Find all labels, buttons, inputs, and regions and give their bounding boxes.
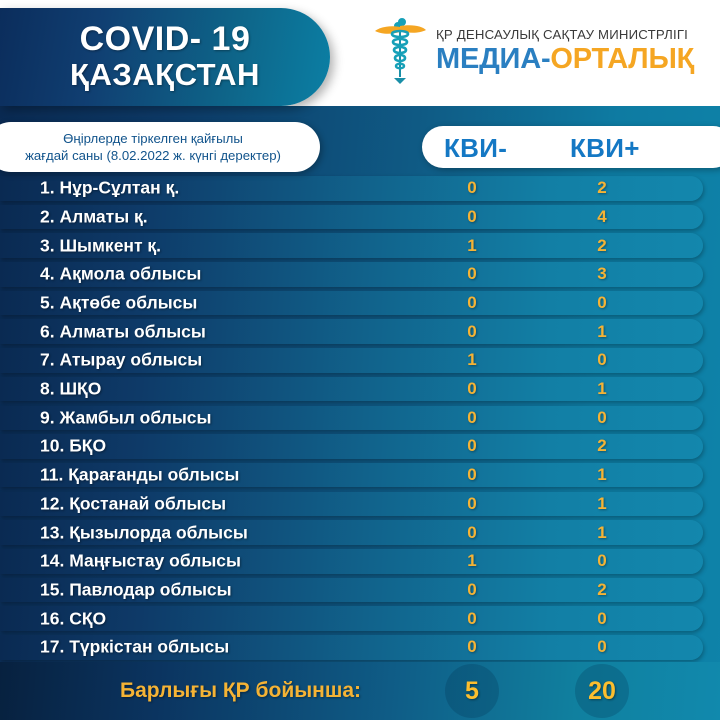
table-row: 4. Ақмола облысы03 xyxy=(0,262,703,287)
kvi-positive-value: 2 xyxy=(582,436,622,456)
covid-title-banner: COVID- 19 ҚАЗАҚСТАН xyxy=(0,8,330,106)
kvi-positive-value: 0 xyxy=(582,408,622,428)
kvi-negative-value: 0 xyxy=(452,264,492,284)
table-row: 9. Жамбыл облысы00 xyxy=(0,406,703,431)
kvi-positive-value: 2 xyxy=(582,236,622,256)
region-label: 6. Алматы облысы xyxy=(40,321,206,342)
kvi-positive-value: 1 xyxy=(582,523,622,543)
table-row: 13. Қызылорда облысы01 xyxy=(0,520,703,545)
kvi-negative-value: 0 xyxy=(452,609,492,629)
region-label: 5. Ақтөбе облысы xyxy=(40,293,197,314)
region-label: 16. СҚО xyxy=(40,608,106,629)
region-label: 10. БҚО xyxy=(40,436,106,457)
brand-suffix: ОРТАЛЫҚ xyxy=(550,43,694,75)
region-label: 15. Павлодар облысы xyxy=(40,579,232,600)
subtitle-line1: Өңірлерде тіркелген қайғылы xyxy=(63,130,243,147)
kvi-negative-value: 0 xyxy=(452,436,492,456)
subtitle-pill: Өңірлерде тіркелген қайғылы жағдай саны … xyxy=(0,122,320,172)
kvi-negative-value: 0 xyxy=(452,580,492,600)
table-row: 17. Түркістан облысы00 xyxy=(0,635,703,660)
kvi-positive-value: 0 xyxy=(582,609,622,629)
kvi-positive-value: 1 xyxy=(582,379,622,399)
totals-footer: Барлығы ҚР бойынша: 5 20 xyxy=(0,662,720,720)
region-label: 7. Атырау облысы xyxy=(40,350,202,371)
kvi-positive-value: 1 xyxy=(582,494,622,514)
kvi-positive-value: 0 xyxy=(582,637,622,657)
region-label: 4. Ақмола облысы xyxy=(40,264,201,285)
region-label: 3. Шымкент қ. xyxy=(40,235,161,256)
region-label: 13. Қызылорда облысы xyxy=(40,522,248,543)
kvi-positive-value: 1 xyxy=(582,465,622,485)
table-row: 10. БҚО02 xyxy=(0,434,703,459)
table-row: 1. Нұр-Сұлтан қ.02 xyxy=(0,176,703,201)
region-label: 17. Түркістан облысы xyxy=(40,637,229,658)
region-label: 8. ШҚО xyxy=(40,379,101,400)
kvi-negative-value: 0 xyxy=(452,523,492,543)
table-row: 2. Алматы қ.04 xyxy=(0,205,703,230)
kvi-positive-value: 4 xyxy=(582,207,622,227)
region-label: 14. Маңғыстау облысы xyxy=(40,551,241,572)
kvi-negative-value: 1 xyxy=(452,350,492,370)
kvi-negative-value: 0 xyxy=(452,293,492,313)
ministry-name: ҚР ДЕНСАУЛЫҚ САҚТАУ МИНИСТРЛІГІ xyxy=(436,27,694,42)
kvi-negative-value: 1 xyxy=(452,551,492,571)
brand-prefix: МЕДИА- xyxy=(436,43,550,75)
kvi-positive-value: 0 xyxy=(582,293,622,313)
kvi-negative-value: 1 xyxy=(452,236,492,256)
region-label: 9. Жамбыл облысы xyxy=(40,407,211,428)
logo-text-block: ҚР ДЕНСАУЛЫҚ САҚТАУ МИНИСТРЛІГІ МЕДИА-ОР… xyxy=(436,27,694,76)
total-negative-value: 5 xyxy=(445,664,499,718)
ministry-logo: ҚР ДЕНСАУЛЫҚ САҚТАУ МИНИСТРЛІГІ МЕДИА-ОР… xyxy=(372,18,694,84)
kvi-negative-value: 0 xyxy=(452,465,492,485)
table-row: 11. Қарағанды облысы01 xyxy=(0,463,703,488)
region-label: 12. Қостанай облысы xyxy=(40,493,226,514)
kvi-negative-value: 0 xyxy=(452,637,492,657)
table-row: 14. Маңғыстау облысы10 xyxy=(0,549,703,574)
kvi-negative-value: 0 xyxy=(452,379,492,399)
kvi-positive-value: 3 xyxy=(582,264,622,284)
column-header-positive: КВИ+ xyxy=(570,133,640,164)
table-row: 15. Павлодар облысы02 xyxy=(0,578,703,603)
table-row: 6. Алматы облысы01 xyxy=(0,319,703,344)
table-row: 8. ШҚО01 xyxy=(0,377,703,402)
banner-title-line2: ҚАЗАҚСТАН xyxy=(70,58,260,92)
kvi-positive-value: 1 xyxy=(582,322,622,342)
covid-infographic: COVID- 19 ҚАЗАҚСТАН ҚР ДЕНСАУЛЫҚ САҚТАУ … xyxy=(0,0,720,720)
kvi-negative-value: 0 xyxy=(452,408,492,428)
media-center-brand: МЕДИА-ОРТАЛЫҚ xyxy=(436,43,694,76)
kvi-negative-value: 0 xyxy=(452,178,492,198)
kvi-negative-value: 0 xyxy=(452,494,492,514)
region-table: 1. Нұр-Сұлтан қ.022. Алматы қ.043. Шымке… xyxy=(0,176,720,664)
kvi-positive-value: 0 xyxy=(582,551,622,571)
column-header-negative: КВИ- xyxy=(444,133,507,164)
kvi-positive-value: 2 xyxy=(582,580,622,600)
banner-title-line1: COVID- 19 xyxy=(80,22,251,58)
column-header-pill: КВИ- КВИ+ xyxy=(422,126,720,168)
total-positive-value: 20 xyxy=(575,664,629,718)
caduceus-icon xyxy=(372,18,428,84)
kvi-positive-value: 0 xyxy=(582,350,622,370)
kvi-positive-value: 2 xyxy=(582,178,622,198)
table-row: 7. Атырау облысы10 xyxy=(0,348,703,373)
region-label: 11. Қарағанды облысы xyxy=(40,465,239,486)
table-row: 3. Шымкент қ.12 xyxy=(0,233,703,258)
region-label: 2. Алматы қ. xyxy=(40,206,148,227)
table-row: 5. Ақтөбе облысы00 xyxy=(0,291,703,316)
table-row: 16. СҚО00 xyxy=(0,606,703,631)
subtitle-line2: жағдай саны (8.02.2022 ж. күнгі деректер… xyxy=(25,147,281,164)
kvi-negative-value: 0 xyxy=(452,207,492,227)
table-row: 12. Қостанай облысы01 xyxy=(0,492,703,517)
kvi-negative-value: 0 xyxy=(452,322,492,342)
totals-label: Барлығы ҚР бойынша: xyxy=(120,679,361,703)
region-label: 1. Нұр-Сұлтан қ. xyxy=(40,178,179,199)
